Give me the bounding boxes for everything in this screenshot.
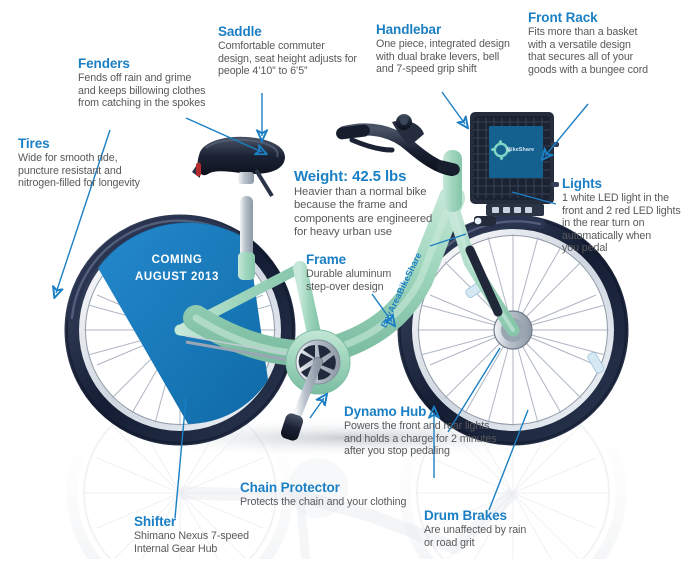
callout-body: Shimano Nexus 7-speed Internal Gear Hub <box>134 530 284 555</box>
callout-heading: Handlebar <box>376 22 544 37</box>
callout-heading: Shifter <box>134 514 284 529</box>
callout-body: Durable aluminum step-over design <box>306 268 456 293</box>
callout-body: One piece, integrated design with dual b… <box>376 38 544 76</box>
lead-front-rack <box>545 104 588 156</box>
callout-lights: Lights 1 white LED light in the front an… <box>562 176 690 255</box>
callout-handlebar: Handlebar One piece, integrated design w… <box>376 22 544 76</box>
infographic-canvas: COMING AUGUST 2013 BayAreaBikeShare Bike… <box>0 0 690 565</box>
callout-frame: Frame Durable aluminum step-over design <box>306 252 456 293</box>
callout-heading: Chain Protector <box>240 480 480 495</box>
callout-weight: Weight: 42.5 lbs Heavier than a normal b… <box>294 168 462 240</box>
callout-heading: Fenders <box>78 56 238 71</box>
callout-body: Protects the chain and your clothing <box>240 496 480 509</box>
callout-heading: Frame <box>306 252 456 267</box>
lead-frame <box>372 294 392 322</box>
lead-handlebar <box>442 92 465 124</box>
callout-body: Fits more than a basket with a versatile… <box>528 26 684 76</box>
callout-body: 1 white LED light in the front and 2 red… <box>562 192 690 255</box>
callout-heading: Front Rack <box>528 10 684 25</box>
callout-body: Heavier than a normal bike because the f… <box>294 186 462 240</box>
lead-lights <box>512 192 556 204</box>
callout-heading: Lights <box>562 176 690 191</box>
callout-chain-protector: Chain Protector Protects the chain and y… <box>240 480 480 509</box>
callout-heading: Dynamo Hub <box>344 404 534 419</box>
callout-dynamo-hub: Dynamo Hub Powers the front and rear lig… <box>344 404 534 458</box>
lead-fenders <box>186 118 262 152</box>
callout-body: Comfortable commuter design, seat height… <box>218 40 398 78</box>
callout-heading: Drum Brakes <box>424 508 574 523</box>
lead-shifter <box>175 398 186 518</box>
callout-shifter: Shifter Shimano Nexus 7-speed Internal G… <box>134 514 284 555</box>
callout-body: Powers the front and rear lights and hol… <box>344 420 534 458</box>
callout-saddle: Saddle Comfortable commuter design, seat… <box>218 24 398 78</box>
callout-body: Fends off rain and grime and keeps billo… <box>78 72 238 110</box>
callout-fenders: Fenders Fends off rain and grime and kee… <box>78 56 238 110</box>
callout-heading: Tires <box>18 136 178 151</box>
callout-drum-brakes: Drum Brakes Are unaffected by rain or ro… <box>424 508 574 549</box>
callout-body: Wide for smooth ride, puncture resistant… <box>18 152 178 190</box>
lead-chain-protector <box>310 398 324 418</box>
callout-front-rack: Front Rack Fits more than a basket with … <box>528 10 684 76</box>
callout-heading: Saddle <box>218 24 398 39</box>
callout-body: Are unaffected by rain or road grit <box>424 524 574 549</box>
callout-tires: Tires Wide for smooth ride, puncture res… <box>18 136 178 190</box>
callout-heading: Weight: 42.5 lbs <box>294 168 462 185</box>
